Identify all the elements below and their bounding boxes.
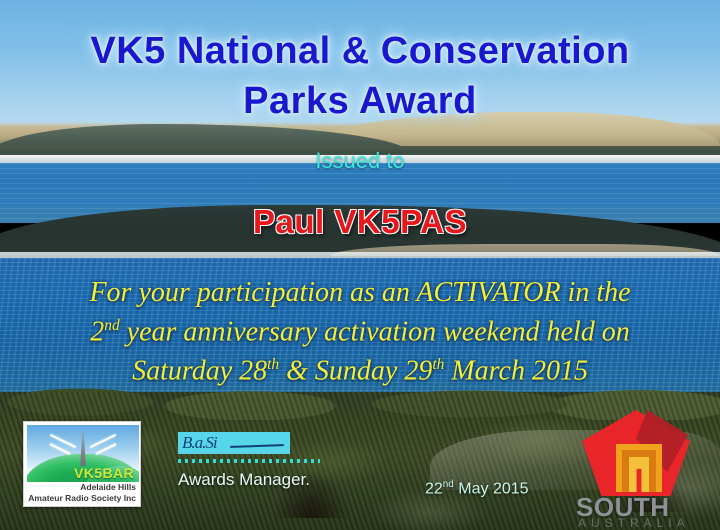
antenna-mast-icon [80,433,86,466]
sa-logo-subtitle: AUSTRALIA [578,516,720,530]
radio-tower-icon: VK5BAR [27,425,139,482]
signature-role-label: Awards Manager. [178,470,310,490]
certificate-title: VK5 National & Conservation Parks Award [0,26,720,126]
issue-date: 22nd May 2015 [425,479,529,498]
issue-date-day: 22 [425,480,443,497]
citation-line-2-rest: year anniversary activation weekend held… [120,316,630,347]
citation-line-3: Saturday 28th & Sunday 29th March 2015 [0,348,720,387]
recipient-name: Paul VK5PAS [0,203,720,241]
title-line-1: VK5 National & Conservation [90,30,629,72]
issue-date-month-year: May 2015 [454,480,529,497]
issue-date-day-suffix: nd [443,479,454,490]
citation-sup-th-2: th [432,356,444,373]
citation-ordinal-suffix: nd [104,317,119,334]
south-australia-logo: SOUTH AUSTRALIA [576,406,720,530]
lightning-bolt-icon-right-lower [96,443,117,454]
citation-sup-th-1: th [267,356,279,373]
citation-date-saturday: Saturday 28 [132,356,267,387]
lightning-bolt-icon-left-lower [50,443,71,454]
citation-date-month-year: March 2015 [444,356,588,387]
citation-ordinal-number: 2 [90,316,104,347]
club-callsign: VK5BAR [74,465,134,481]
signature-dotted-line [178,459,320,463]
citation-line-1: For your participation as an ACTIVATOR i… [0,276,720,309]
club-org-line-1: Adelaide Hills [24,482,136,493]
signature-handwriting: B.a.Si [182,433,286,453]
vk5bar-club-logo: VK5BAR Adelaide Hills Amateur Radio Soci… [23,421,141,507]
certificate: VK5 National & Conservation Parks Award … [0,0,720,530]
title-line-2: Parks Award [0,76,720,126]
citation-line-2: 2nd year anniversary activation weekend … [0,309,720,348]
citation-date-sunday: & Sunday 29 [279,356,432,387]
signature-image: B.a.Si [178,432,290,454]
issued-to-label: Issued to [0,148,720,174]
citation-text: For your participation as an ACTIVATOR i… [0,276,720,388]
signature-block: B.a.Si Awards Manager. [178,432,328,454]
sa-doorway-glyph-icon [616,444,662,492]
club-org-name: Adelaide Hills Amateur Radio Society Inc [24,482,136,504]
sa-doorway-inner [629,457,649,492]
sa-doorway-middle [622,450,656,492]
club-org-line-2: Amateur Radio Society Inc [24,493,136,504]
